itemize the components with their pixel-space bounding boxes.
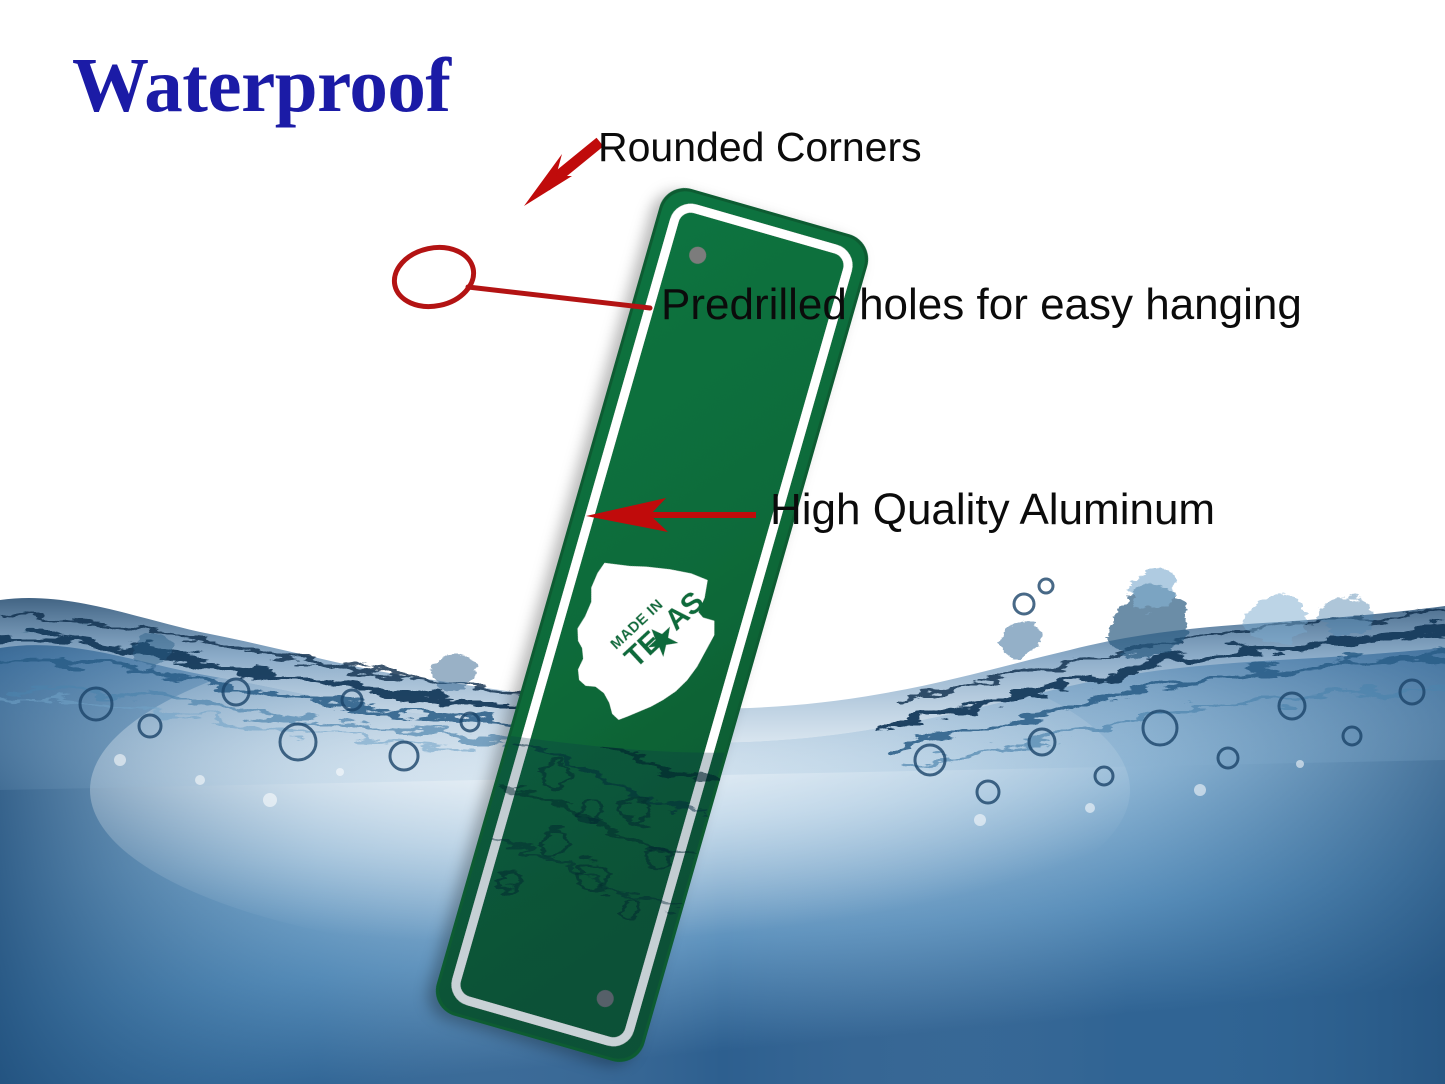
- page-title: Waterproof: [72, 47, 451, 124]
- predrilled-hole-ellipse-icon: [389, 240, 479, 313]
- predrilled-holes-annotation: [389, 240, 650, 313]
- callout-label-rounded-corners: Rounded Corners: [598, 124, 922, 171]
- high-quality-aluminum-arrow-icon: [586, 498, 756, 532]
- rounded-corners-arrow-icon: [524, 142, 600, 206]
- callout-label-predrilled-holes: Predrilled holes for easy hanging: [661, 280, 1302, 330]
- callout-label-high-quality-aluminum: High Quality Aluminum: [770, 485, 1215, 535]
- infographic-canvas: MADE IN TE AS: [0, 0, 1445, 1084]
